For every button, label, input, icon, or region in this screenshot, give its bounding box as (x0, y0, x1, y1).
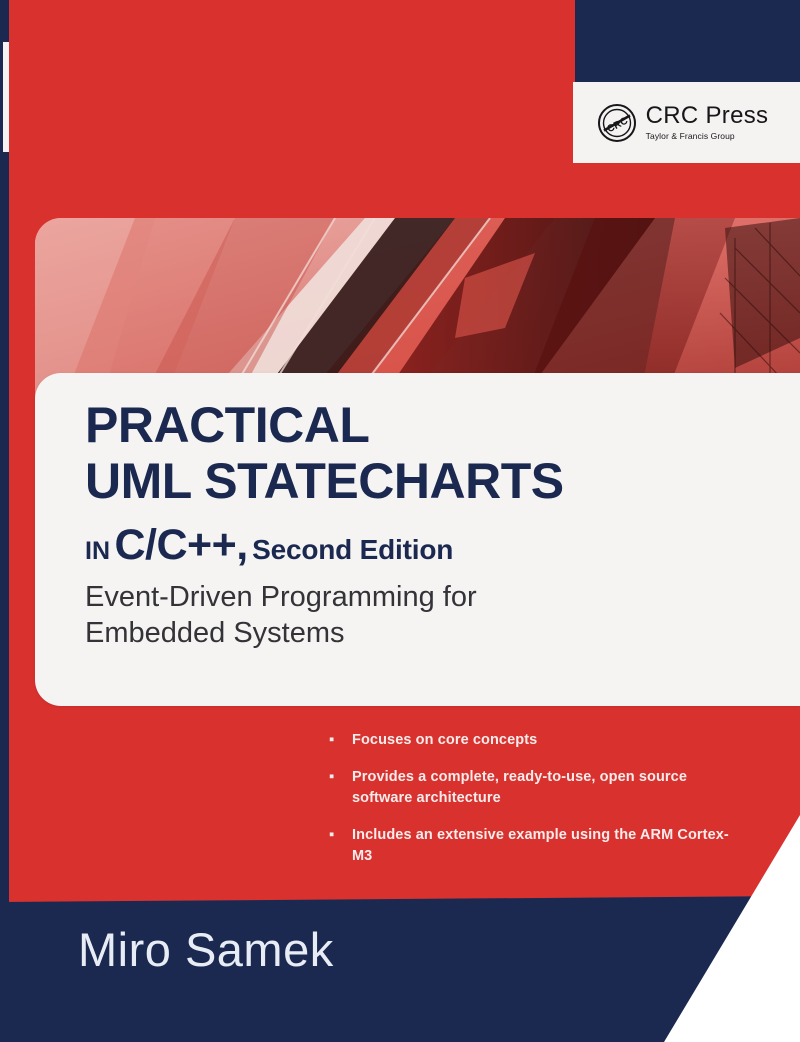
list-item: ▪ Includes an extensive example using th… (325, 825, 745, 867)
subtitle-line-1: Event-Driven Programming for (85, 580, 776, 616)
book-cover: CRC CRC Press Taylor & Francis Group (0, 0, 800, 1042)
spine-strip (0, 0, 9, 1042)
crc-roundel-icon: CRC (597, 103, 637, 143)
title-line-2: UML STATECHARTS (85, 453, 776, 509)
bullet-marker-icon: ▪ (325, 825, 352, 844)
publisher-logo-group: CRC CRC Press Taylor & Francis Group (597, 103, 769, 143)
title-line-1: PRACTICAL (85, 397, 776, 453)
feature-bullet-list: ▪ Focuses on core concepts ▪ Provides a … (325, 730, 745, 883)
title-line-3: IN C/C++, Second Edition (85, 523, 776, 568)
publisher-panel: CRC CRC Press Taylor & Francis Group (573, 82, 800, 163)
title-block: PRACTICAL UML STATECHARTS IN C/C++, Seco… (85, 397, 776, 652)
subtitle-line-2: Embedded Systems (85, 616, 776, 652)
publisher-imprint: Taylor & Francis Group (646, 132, 735, 141)
bullet-text: Provides a complete, ready-to-use, open … (352, 767, 745, 809)
publisher-wordmark: CRC Press Taylor & Francis Group (646, 104, 769, 141)
bullet-text: Focuses on core concepts (352, 730, 537, 751)
publisher-name: CRC Press (646, 104, 769, 128)
title-panel: PRACTICAL UML STATECHARTS IN C/C++, Seco… (35, 373, 800, 706)
subtitle-block: Event-Driven Programming for Embedded Sy… (85, 580, 776, 652)
bullet-marker-icon: ▪ (325, 730, 352, 749)
author-name: Miro Samek (78, 922, 334, 977)
navy-top-right-block (575, 0, 800, 88)
title-language: C/C++, (114, 521, 247, 569)
title-edition: Second Edition (252, 534, 453, 565)
list-item: ▪ Provides a complete, ready-to-use, ope… (325, 767, 745, 809)
title-preposition: IN (85, 537, 110, 565)
list-item: ▪ Focuses on core concepts (325, 730, 745, 751)
spine-strip-highlight (3, 42, 9, 152)
bullet-text: Includes an extensive example using the … (352, 825, 745, 867)
bullet-marker-icon: ▪ (325, 767, 352, 786)
